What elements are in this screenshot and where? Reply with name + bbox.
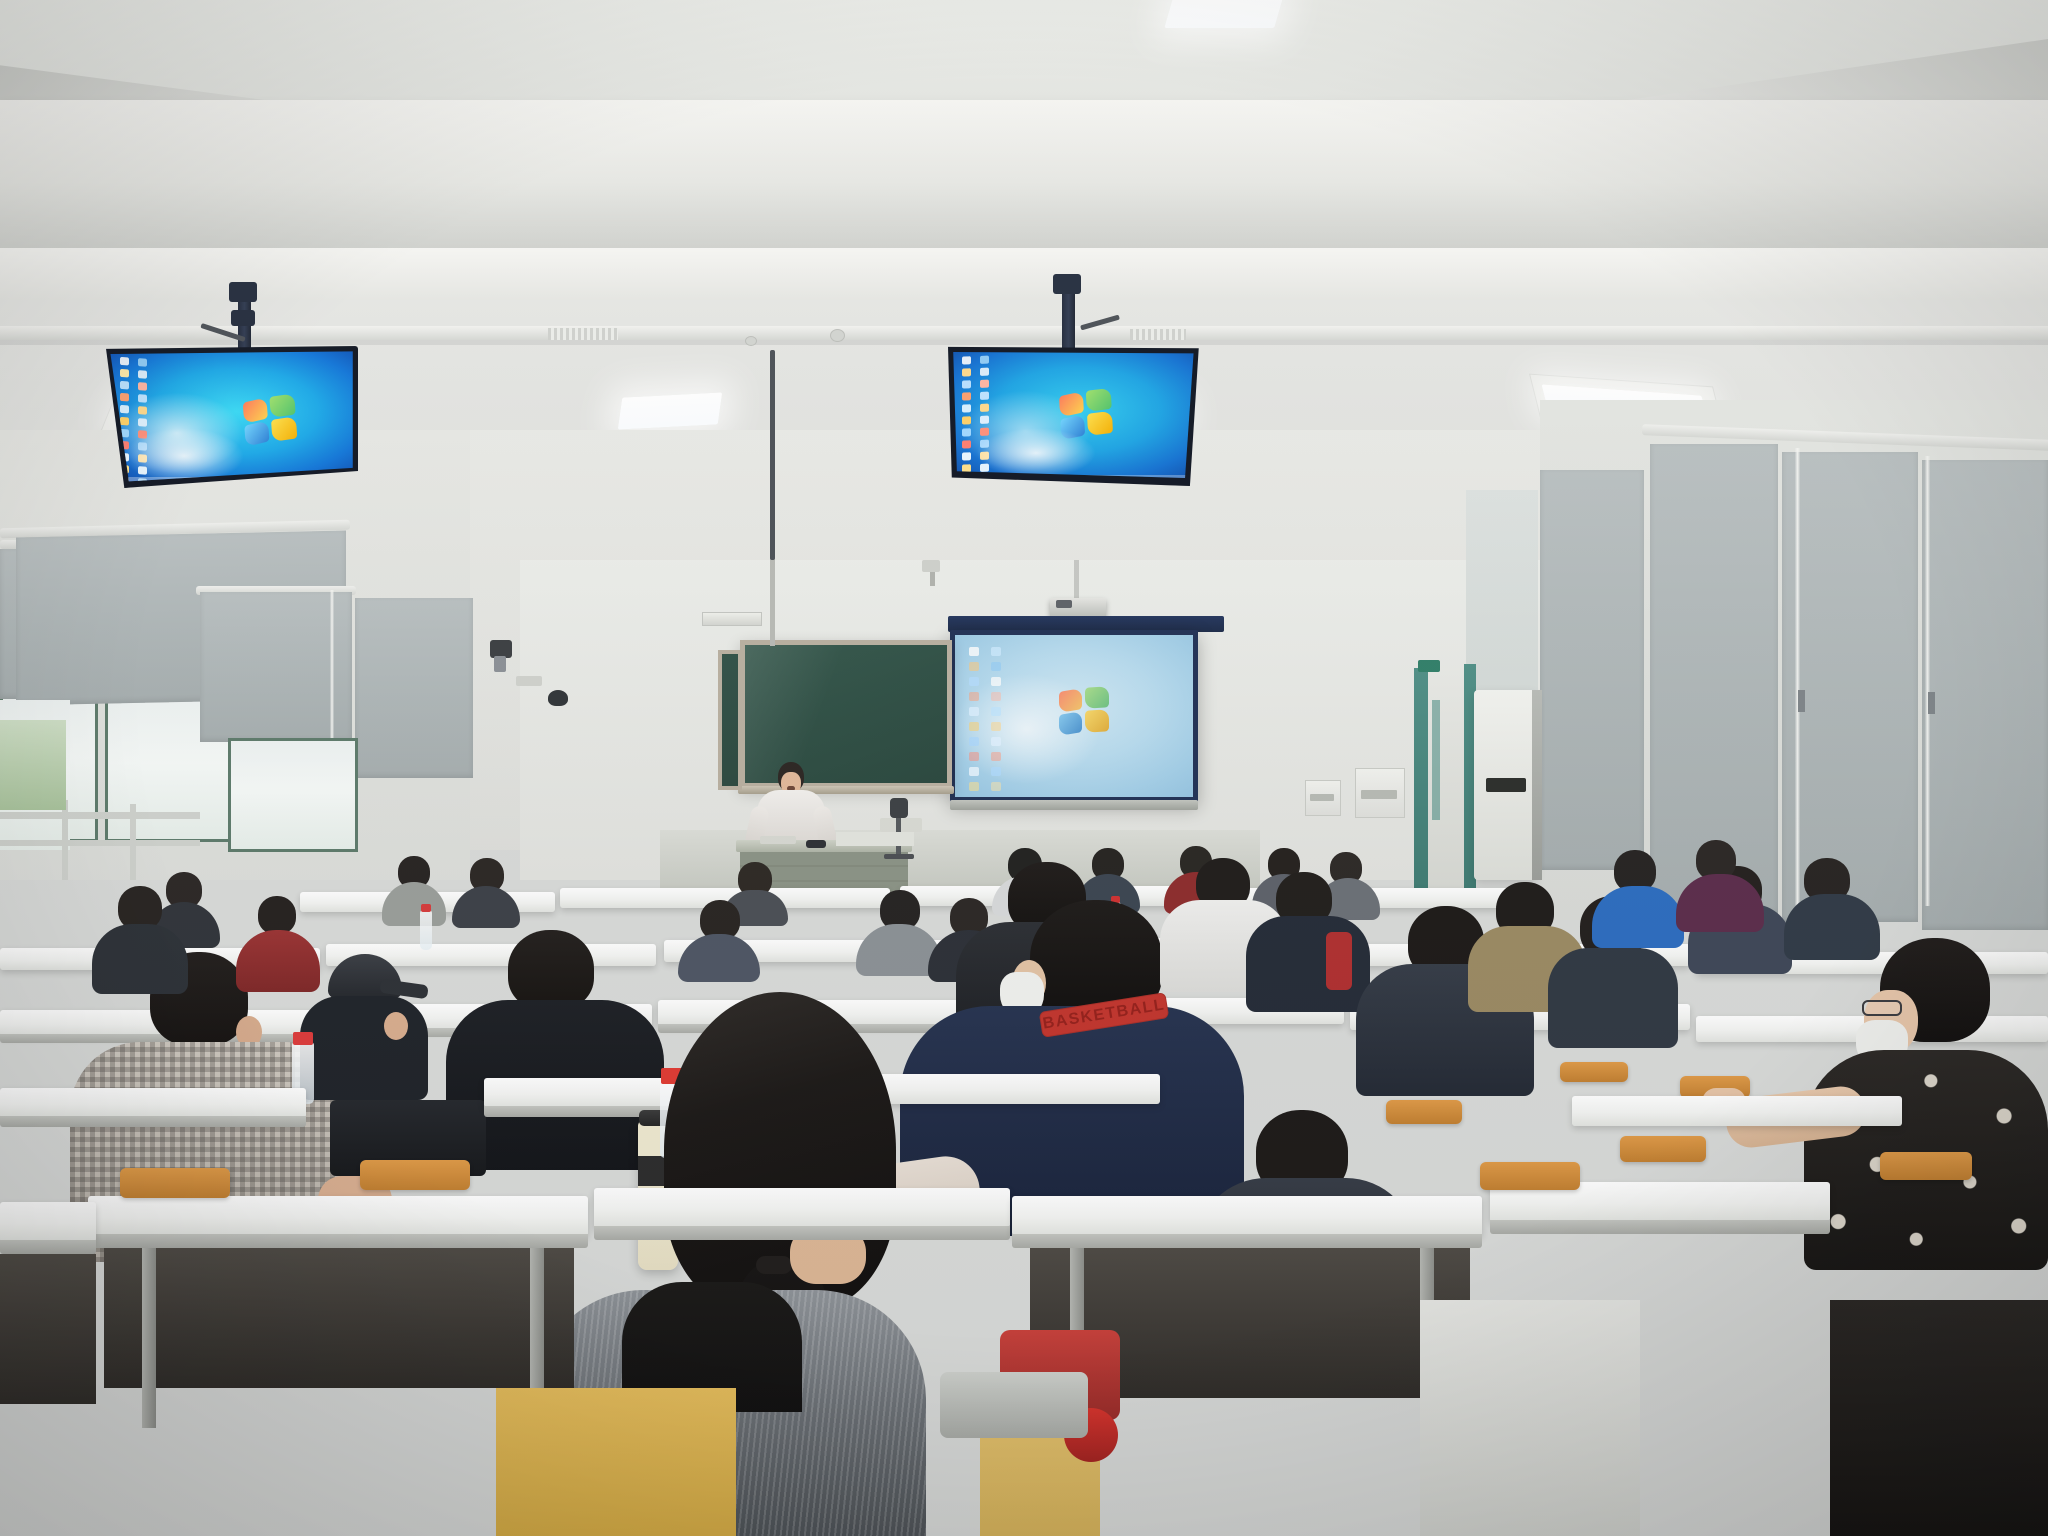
projection-screen[interactable]: [955, 635, 1193, 797]
blind-cord-right-1[interactable]: [1795, 448, 1800, 908]
wall-light-fixture: [702, 612, 762, 626]
balcony-railing-post: [130, 804, 136, 880]
person-torso: [1548, 948, 1678, 1048]
blind-cord-weight: [1928, 692, 1935, 714]
window-frame-left-3: [228, 738, 358, 852]
electrical-panel-2-slot: [1310, 794, 1334, 801]
roller-blind-right-4[interactable]: [1540, 470, 1644, 870]
red-shirt-head: [258, 896, 296, 934]
desk-foreground-center-edge: [594, 1226, 1010, 1240]
tv-mount-bracket-left: [231, 310, 255, 326]
hanging-conduit: [770, 556, 775, 646]
stage-camera-base: [884, 854, 914, 859]
balcony-railing: [0, 812, 200, 819]
ceiling-trunking-rail: [0, 326, 2048, 340]
podium-papers: [760, 836, 796, 844]
chair-back: [360, 1160, 470, 1190]
blind-cord-right-2[interactable]: [1925, 456, 1930, 906]
projection-screen-bottom-bar: [950, 800, 1198, 810]
tv-mount-head-right: [1053, 274, 1081, 294]
ceiling-sprinkler-icon: [745, 336, 757, 346]
desk-row-4: [0, 1088, 306, 1118]
lecture-hall-photo: BASKETBALL: [0, 0, 2048, 1536]
ceiling-vent-grille: [548, 328, 618, 340]
glasses-icon: [1862, 1000, 1902, 1016]
desk-panel-foreground: [1420, 1300, 1640, 1536]
roller-blind-right-3[interactable]: [1922, 460, 2048, 930]
wall-camera-left: [548, 690, 568, 706]
desk-foreground-center: [594, 1188, 1010, 1228]
floral-dress-lower: [1830, 1300, 2048, 1536]
projection-screen-frame: [950, 630, 1198, 802]
ceiling-light-panel: [618, 392, 722, 429]
electrical-panel-1-slot: [1361, 790, 1397, 799]
chair-back: [1386, 1100, 1462, 1124]
chalkboard-left-panel: [718, 650, 742, 790]
water-bottle: [420, 910, 432, 950]
air-conditioner-vent: [1486, 778, 1526, 792]
tv-left-screen[interactable]: [108, 350, 354, 484]
water-bottle-cap: [293, 1032, 313, 1045]
windows-logo-icon: [242, 394, 299, 446]
ceiling-beam-cross: [0, 100, 2048, 250]
outside-greenery: [0, 720, 66, 810]
ceiling-vent-grille: [1130, 329, 1186, 340]
podium-microphone-base: [806, 840, 826, 848]
desk-foreground-far-right-edge: [1490, 1220, 1830, 1234]
stage-camera: [890, 798, 908, 818]
person-torso: [1592, 886, 1684, 948]
roller-blind-left-4[interactable]: [355, 598, 473, 778]
chair-back: [120, 1168, 230, 1198]
door-frame-left: [1414, 668, 1428, 900]
floor: [496, 1388, 736, 1536]
stage-side-desk: [880, 818, 922, 832]
chair-back: [1620, 1136, 1706, 1162]
tv-right-glare: [976, 428, 1096, 478]
desk-foreground-right-edge: [1012, 1234, 1482, 1248]
desk-leg: [142, 1248, 156, 1428]
wall-fixture: [516, 676, 542, 686]
windows-logo-icon: [1059, 687, 1111, 735]
wall-bracket-arm: [930, 572, 935, 586]
stage-counter: [836, 832, 914, 846]
bag-on-floor: [940, 1372, 1088, 1438]
ceiling-light-panel: [1164, 0, 1285, 28]
water-bottle-cap: [421, 904, 431, 912]
desk-row-4: [1572, 1096, 1902, 1126]
chair-back: [1560, 1062, 1628, 1082]
ceiling-sprinkler-icon: [830, 329, 845, 342]
projector-lens-icon: [1056, 600, 1072, 608]
wall-bracket: [922, 560, 940, 572]
person-head: [508, 930, 594, 1010]
chair-back: [1880, 1152, 1972, 1180]
air-conditioner-side: [1532, 690, 1542, 880]
desk-foreground-left-under: [104, 1248, 574, 1388]
person-torso: [1784, 894, 1880, 960]
desk-foreground-right: [1012, 1196, 1482, 1236]
door-glass-strip: [1432, 700, 1440, 820]
exit-sign: [1418, 660, 1440, 672]
ceiling-rail-shadow: [0, 340, 2048, 345]
ceiling-drop-cable: [770, 350, 775, 560]
red-shirt-torso: [236, 930, 320, 992]
person-torso: [382, 882, 446, 926]
cap-man-torso: [300, 996, 428, 1100]
tv-left-glare: [124, 428, 244, 484]
lanyard: [1326, 932, 1352, 990]
balcony-railing: [0, 840, 200, 846]
chalkboard: [740, 640, 952, 788]
hair-tie: [756, 1256, 792, 1274]
desk-foreground-far-left-under: [0, 1254, 96, 1404]
roller-blind-right-2[interactable]: [1782, 452, 1918, 922]
wall-speaker-bracket: [494, 656, 506, 672]
projector-desktop-icons[interactable]: [969, 647, 1007, 795]
balcony-railing-post: [62, 800, 68, 880]
desk-foreground-left-edge: [88, 1234, 588, 1248]
tv-right-screen[interactable]: [952, 348, 1196, 482]
projector-mount-arm: [1074, 560, 1079, 602]
desk-foreground-far-left-edge: [0, 1240, 96, 1254]
tv-mount-head-left: [229, 282, 257, 302]
blind-cord-left-3[interactable]: [330, 590, 334, 760]
desk-foreground-left: [88, 1196, 588, 1236]
blind-cord-weight: [1798, 690, 1805, 712]
desk-foreground-far-left: [0, 1202, 96, 1242]
desk-row-4-edge: [0, 1116, 306, 1127]
chalkboard-glare: [745, 645, 947, 783]
chair-back: [1480, 1162, 1580, 1190]
tv-right[interactable]: [948, 344, 1200, 486]
cap-man-hand: [384, 1012, 408, 1040]
tv-left[interactable]: [104, 346, 358, 488]
person-torso: [92, 924, 188, 994]
